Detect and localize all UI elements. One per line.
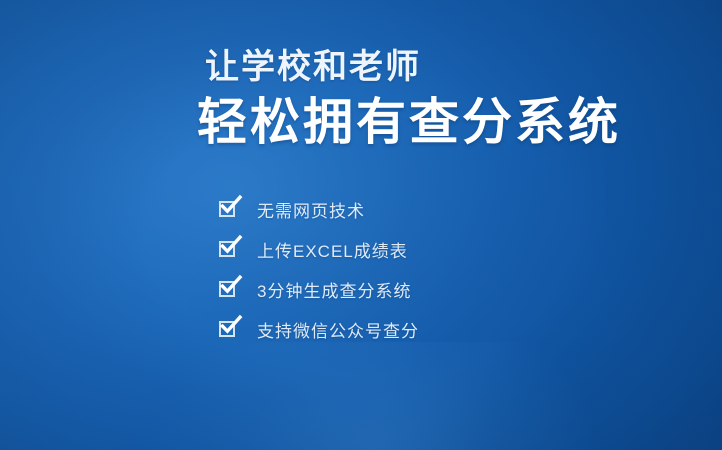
promo-banner: 让学校和老师 轻松拥有查分系统 无需网页技术 上传EXCEL成绩表: [0, 0, 722, 450]
checkbox-checked-icon: [219, 201, 235, 217]
background-glow-bottom: [159, 342, 592, 450]
feature-item: 3分钟生成查分系统: [219, 269, 685, 309]
headline-subtitle: 让学校和老师: [205, 48, 685, 87]
feature-label: 无需网页技术: [257, 197, 365, 222]
feature-label: 3分钟生成查分系统: [257, 277, 411, 302]
feature-list: 无需网页技术 上传EXCEL成绩表 3分钟生成查分系统: [219, 189, 685, 349]
headline-title: 轻松拥有查分系统: [197, 93, 685, 151]
checkbox-checked-icon: [219, 321, 235, 337]
banner-content: 让学校和老师 轻松拥有查分系统 无需网页技术 上传EXCEL成绩表: [205, 48, 685, 349]
feature-label: 上传EXCEL成绩表: [257, 237, 408, 262]
feature-item: 无需网页技术: [219, 189, 685, 229]
feature-item: 支持微信公众号查分: [219, 309, 685, 349]
feature-item: 上传EXCEL成绩表: [219, 229, 685, 269]
checkbox-checked-icon: [219, 241, 235, 257]
checkbox-checked-icon: [219, 281, 235, 297]
feature-label: 支持微信公众号查分: [257, 317, 419, 342]
